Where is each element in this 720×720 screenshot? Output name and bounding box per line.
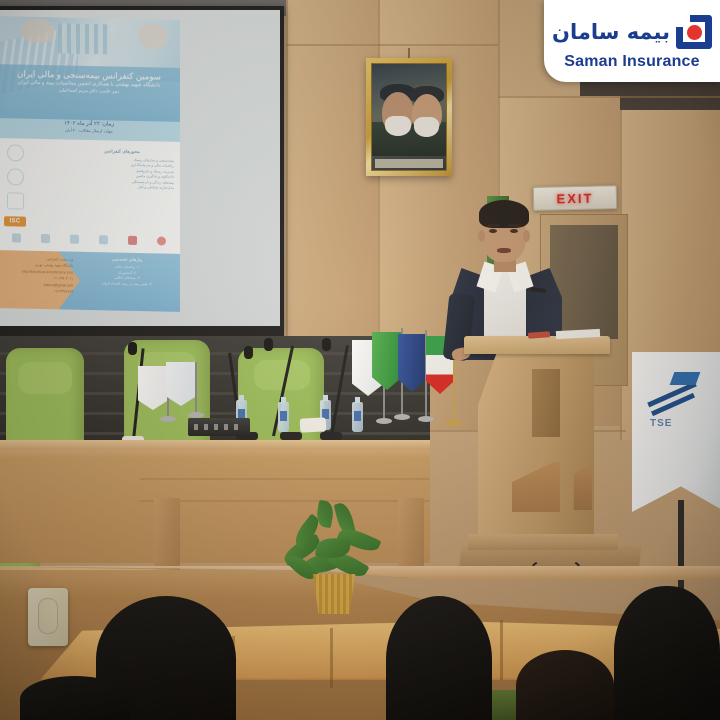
banner-logo-icon [646,370,700,412]
icon-gem [99,235,108,244]
hand-graphic-2 [138,23,168,50]
podium-base [468,534,618,550]
audience-member [20,676,130,720]
water-bottle [352,402,363,432]
icon-phone [41,233,50,242]
eyebrow [487,224,500,227]
icon-dot [157,236,166,245]
portrait-beard [414,117,439,137]
water-bottle [278,402,289,432]
flag-stand [160,416,176,422]
slide-body: ISC محورهای کنفرانس بیمه‌سنجی و مدل‌های … [0,138,180,254]
logo-persian-text: بیمه سامان [552,20,670,44]
panel-seam [286,44,498,46]
portrait-image [371,63,447,171]
portrait-beard [385,116,411,136]
sponsor-logo-icon [7,168,24,185]
podium-inset-panel [532,369,560,437]
projection-screen: سومین کنفرانس بیمه‌سنجی و مالی ایران دان… [0,6,284,336]
icon-camera [128,235,137,244]
panel-item: ۴- نقش بیمه در رشد اقتصاد ایران [78,281,176,289]
head-table-edge [0,440,430,450]
slide-topics: محورهای کنفرانس بیمه‌سنجی و مدل‌های ریسک… [70,148,174,192]
sponsor-logo-icon [7,144,24,161]
projected-slide: سومین کنفرانس بیمه‌سنجی و مالی ایران دان… [0,16,180,312]
flag-stand [446,420,462,426]
eye [489,229,497,233]
light-divider [500,620,503,680]
flag-stand [394,414,410,420]
tissue-box [300,417,327,432]
microphone-head [244,346,253,359]
control-console [188,418,250,436]
stage-monitor-speaker [28,588,68,646]
hand-graphic [20,19,54,44]
light-divider [330,628,333,688]
table-panel-line [140,478,430,480]
slide-topics-heading: محورهای کنفرانس [70,148,174,156]
icon-triangle [12,233,21,242]
audience-member [614,586,720,720]
conference-photo: سومین کنفرانس بیمه‌سنجی و مالی ایران دان… [0,0,720,720]
slide-footer: وب سایت کنفرانس دانشگاه شهید بهشتی، تهرا… [0,250,180,312]
flag-stand [188,412,204,418]
audience-member [386,596,492,720]
eye [510,229,518,233]
podium-top-surface [464,336,610,354]
saman-logo-icon [676,15,712,49]
logo-notch [676,15,690,27]
standing-banner: TSE [632,352,720,512]
slide-icon-row [2,230,176,248]
microphone-base [320,432,342,440]
panels-heading: پنل‌های تخصصی [78,256,176,264]
monitor-graphic [58,23,110,54]
microphone-base [280,432,302,440]
microphone-head [264,338,273,351]
logo-red-dot [687,25,702,40]
mouth [497,248,511,253]
icon-pen [70,234,79,243]
slide-panels-list: پنل‌های تخصصی ۱- ریاضیات مالی ۲- اینشورت… [78,256,176,288]
ear [478,230,485,242]
panel-seam [498,96,720,98]
slide-title-block: سومین کنفرانس بیمه‌سنجی و مالی ایران دان… [0,64,180,122]
logo-english-text: Saman Insurance [564,53,700,71]
banner-text: TSE [650,418,672,429]
slide-contact-list: وب سایت کنفرانس دانشگاه شهید بهشتی، تهرا… [1,255,73,295]
microphone-head [322,338,331,351]
flag-pole [195,362,197,414]
plant-pot [310,574,358,614]
ear [523,230,530,242]
flag-stand [418,416,434,422]
wall-portrait [366,58,452,176]
flag-stand [376,418,392,424]
isc-badge: ISC [4,216,26,226]
portrait-caption-strip [375,159,443,168]
microphone-head [128,342,137,355]
sponsor-logo-icon [7,192,24,209]
eyebrow [508,224,521,227]
audience-member [516,650,614,720]
chair-headrest [18,362,72,394]
sponsor-logo-column: ISC [1,144,29,227]
screen-surface: سومین کنفرانس بیمه‌سنجی و مالی ایران دان… [0,10,280,326]
logo-row: بیمه سامان [552,12,712,52]
podium [470,336,602,572]
saman-insurance-watermark: بیمه سامان Saman Insurance [544,0,720,82]
potted-plant [272,498,392,618]
slide-topic-item: مدل‌سازی تصادفی و آمار [70,184,174,192]
